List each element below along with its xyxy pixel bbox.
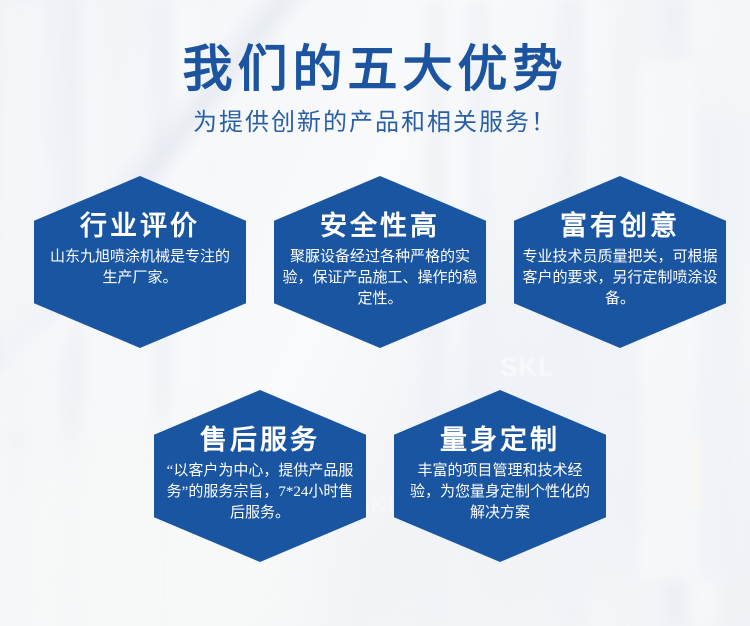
advantage-description: “以客户为中心，提供产品服务”的服务宗旨，7*24小时售后服务。	[160, 461, 360, 524]
advantage-description: 山东九旭喷涂机械是专注的生产厂家。	[40, 247, 240, 289]
banner-stage: SKL SKL 我们的五大优势 为提供创新的产品和相关服务！ 行业评价 山东九旭…	[0, 0, 750, 626]
hexagon-content: 行业评价 山东九旭喷涂机械是专注的生产厂家。	[34, 210, 246, 289]
background-watermark: SKL	[500, 352, 555, 383]
hexagon-content: 安全性高 聚脲设备经过各种严格的实验，保证产品施工、操作的稳定性。	[274, 210, 486, 310]
page-title: 我们的五大优势	[0, 40, 750, 98]
advantage-title: 富有创意	[520, 210, 720, 242]
hexagon-content: 量身定制 丰富的项目管理和技术经验，为您量身定制个性化的解决方案	[394, 424, 606, 524]
advantage-description: 丰富的项目管理和技术经验，为您量身定制个性化的解决方案	[400, 461, 600, 524]
advantage-description: 专业技术员质量把关，可根据客户的要求，另行定制喷涂设备。	[520, 247, 720, 310]
advantage-description: 聚脲设备经过各种严格的实验，保证产品施工、操作的稳定性。	[280, 247, 480, 310]
page-subtitle: 为提供创新的产品和相关服务！	[0, 106, 750, 140]
advantage-title: 安全性高	[280, 210, 480, 242]
advantage-title: 量身定制	[400, 424, 600, 456]
hexagon-content: 售后服务 “以客户为中心，提供产品服务”的服务宗旨，7*24小时售后服务。	[154, 424, 366, 524]
advantage-title: 售后服务	[160, 424, 360, 456]
advantage-title: 行业评价	[40, 210, 240, 242]
heading-block: 我们的五大优势 为提供创新的产品和相关服务！	[0, 40, 750, 140]
hexagon-content: 富有创意 专业技术员质量把关，可根据客户的要求，另行定制喷涂设备。	[514, 210, 726, 310]
